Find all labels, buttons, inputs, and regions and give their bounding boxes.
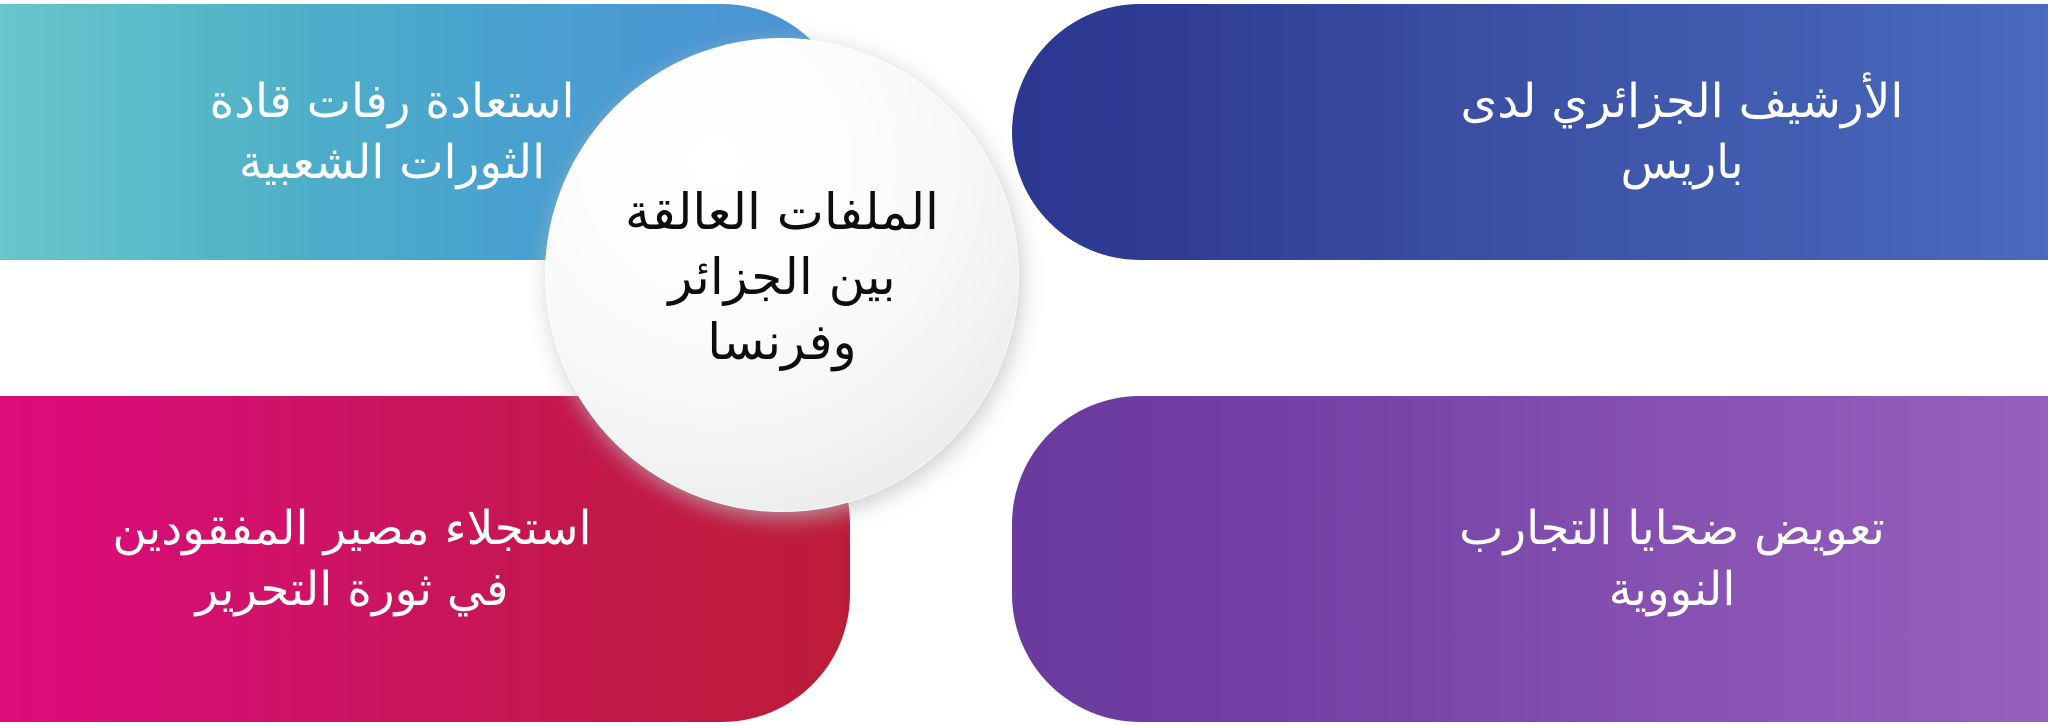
panel-top-right[interactable]: الأرشيف الجزائري لدى باريس bbox=[1012, 4, 2048, 260]
panel-bottom-right[interactable]: تعويض ضحايا التجارب النووية bbox=[1012, 396, 2048, 722]
panel-bottom-right-label: تعويض ضحايا التجارب النووية bbox=[1352, 498, 1992, 620]
panel-top-right-label: الأرشيف الجزائري لدى باريس bbox=[1332, 71, 2032, 193]
panel-bottom-left-label: استجلاء مصير المفقودين في ثورة التحرير bbox=[32, 498, 672, 620]
center-hub-label: الملفات العالقة بين الجزائر وفرنسا bbox=[602, 180, 962, 375]
center-hub-circle[interactable]: الملفات العالقة بين الجزائر وفرنسا bbox=[545, 38, 1019, 512]
infographic-canvas: استعادة رفات قادة الثورات الشعبية الأرشي… bbox=[0, 0, 2048, 725]
